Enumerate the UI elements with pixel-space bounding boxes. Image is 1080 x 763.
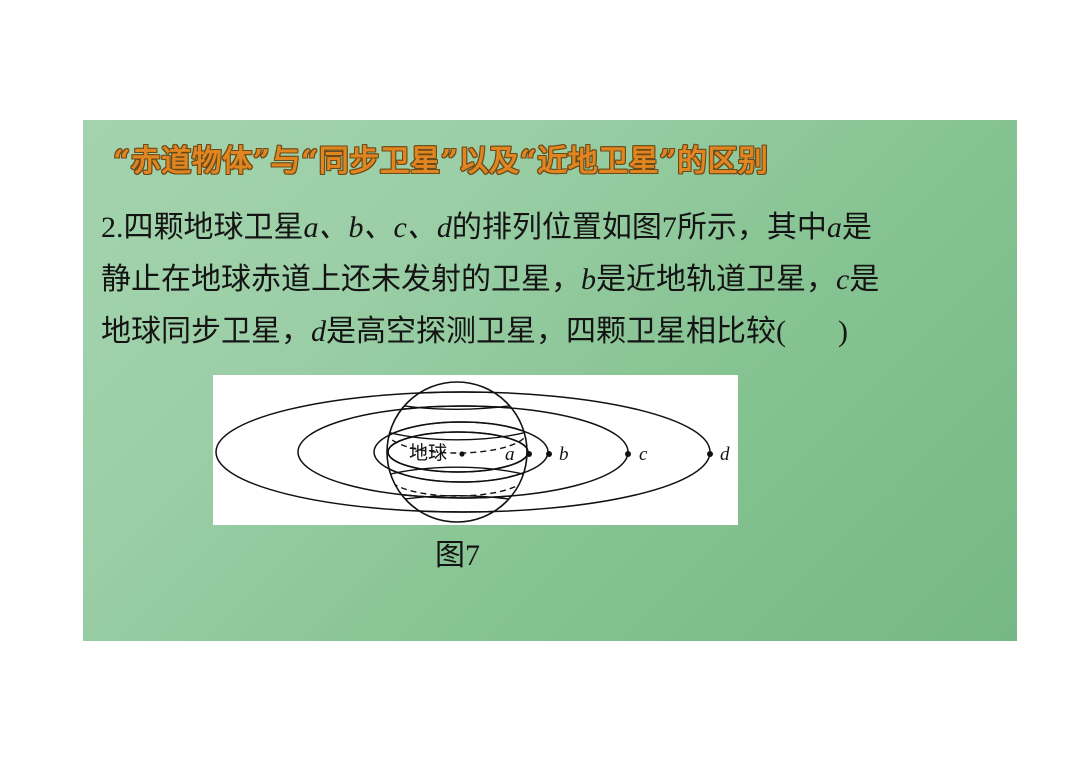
earth-label: 地球 [409, 442, 447, 464]
satellite-markers: a b c d [505, 444, 730, 465]
satellite-dot-b [546, 451, 552, 457]
question-line2-text-a: 静止在地球赤道上还未发射的卫星， [101, 263, 581, 296]
satellite-dot-d [707, 451, 713, 457]
question-line1-text-a: 四颗地球卫星 [124, 211, 304, 244]
question-line-1: 2.四颗地球卫星a、b、c、d的排列位置如图7所示，其中a是 [101, 202, 1001, 254]
question-line2-var-c: c [836, 263, 849, 296]
question-line3-text-b: 是高空探测卫星，四颗卫星相比较( [326, 315, 786, 348]
question-line2-var-b: b [581, 263, 596, 296]
satellite-dot-a [526, 451, 532, 457]
question-line-2: 静止在地球赤道上还未发射的卫星，b是近地轨道卫星，c是 [101, 254, 1001, 306]
earth-center-dot [459, 451, 464, 456]
question-line3-var-d: d [311, 315, 326, 348]
question-line1-var-a: a [827, 211, 842, 244]
satellite-label-c: c [639, 444, 648, 465]
satellite-label-b: b [559, 444, 569, 465]
question-line1-text-b: 的排列位置如图7所示，其中 [452, 211, 827, 244]
figure-caption: 图7 [435, 538, 480, 574]
slide-canvas: “赤道物体”与“同步卫星”以及“近地卫星”的区别 2.四颗地球卫星a、b、c、d… [0, 0, 1080, 763]
question-line1-text-c: 是 [842, 211, 872, 244]
satellite-orbit-diagram: 地球 a b c d [213, 375, 738, 525]
page-title: “赤道物体”与“同步卫星”以及“近地卫星”的区别 [113, 142, 993, 182]
question-line-3: 地球同步卫星，d是高空探测卫星，四颗卫星相比较() [101, 306, 1001, 358]
question-body: 2.四颗地球卫星a、b、c、d的排列位置如图7所示，其中a是 静止在地球赤道上还… [101, 202, 1001, 358]
question-line1-variables: a、b、c、d [304, 211, 452, 244]
figure-image-box: 地球 a b c d [213, 375, 738, 525]
question-line2-text-b: 是近地轨道卫星， [596, 263, 836, 296]
satellite-label-d: d [720, 444, 730, 465]
question-number: 2. [101, 211, 124, 244]
satellite-label-a: a [505, 444, 515, 465]
question-line3-text-a: 地球同步卫星， [101, 315, 311, 348]
content-panel: “赤道物体”与“同步卫星”以及“近地卫星”的区别 2.四颗地球卫星a、b、c、d… [83, 120, 1017, 641]
satellite-dot-c [625, 451, 631, 457]
question-line3-text-c: ) [838, 315, 848, 348]
question-line2-text-c: 是 [849, 263, 879, 296]
